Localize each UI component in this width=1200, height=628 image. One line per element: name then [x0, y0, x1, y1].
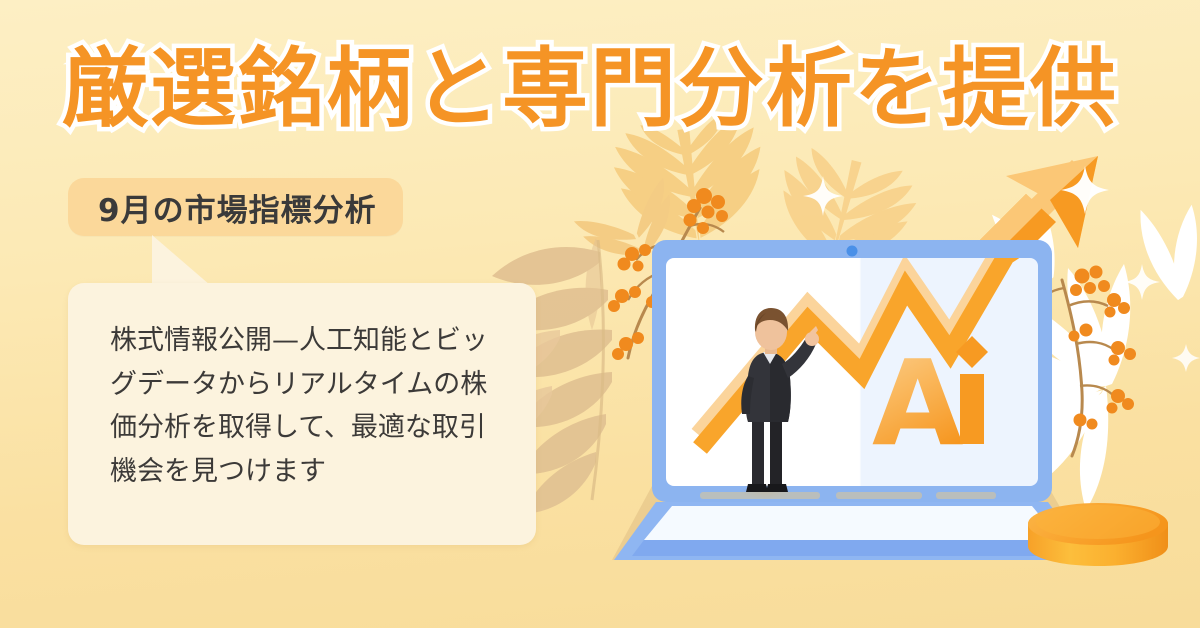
webcam-dot	[847, 246, 858, 257]
subtitle-badge-label: 9月の市場指標分析	[98, 185, 377, 230]
speech-bubble-text: 株式情報公開—人工知能とビッグデータからリアルタイムの株価分析を取得して、最適な…	[110, 319, 508, 494]
gold-coin-icon	[1028, 503, 1168, 566]
svg-text:A: A	[872, 334, 963, 472]
promo-banner: A	[0, 0, 1200, 628]
speech-bubble: 株式情報公開—人工知能とビッグデータからリアルタイムの株価分析を取得して、最適な…	[68, 283, 536, 545]
laptop-illustration: A	[612, 214, 1090, 560]
page-title: 厳選銘柄と専門分析を提供	[62, 46, 1118, 132]
subtitle-badge: 9月の市場指標分析	[68, 178, 403, 236]
speech-bubble-tail	[152, 235, 210, 285]
